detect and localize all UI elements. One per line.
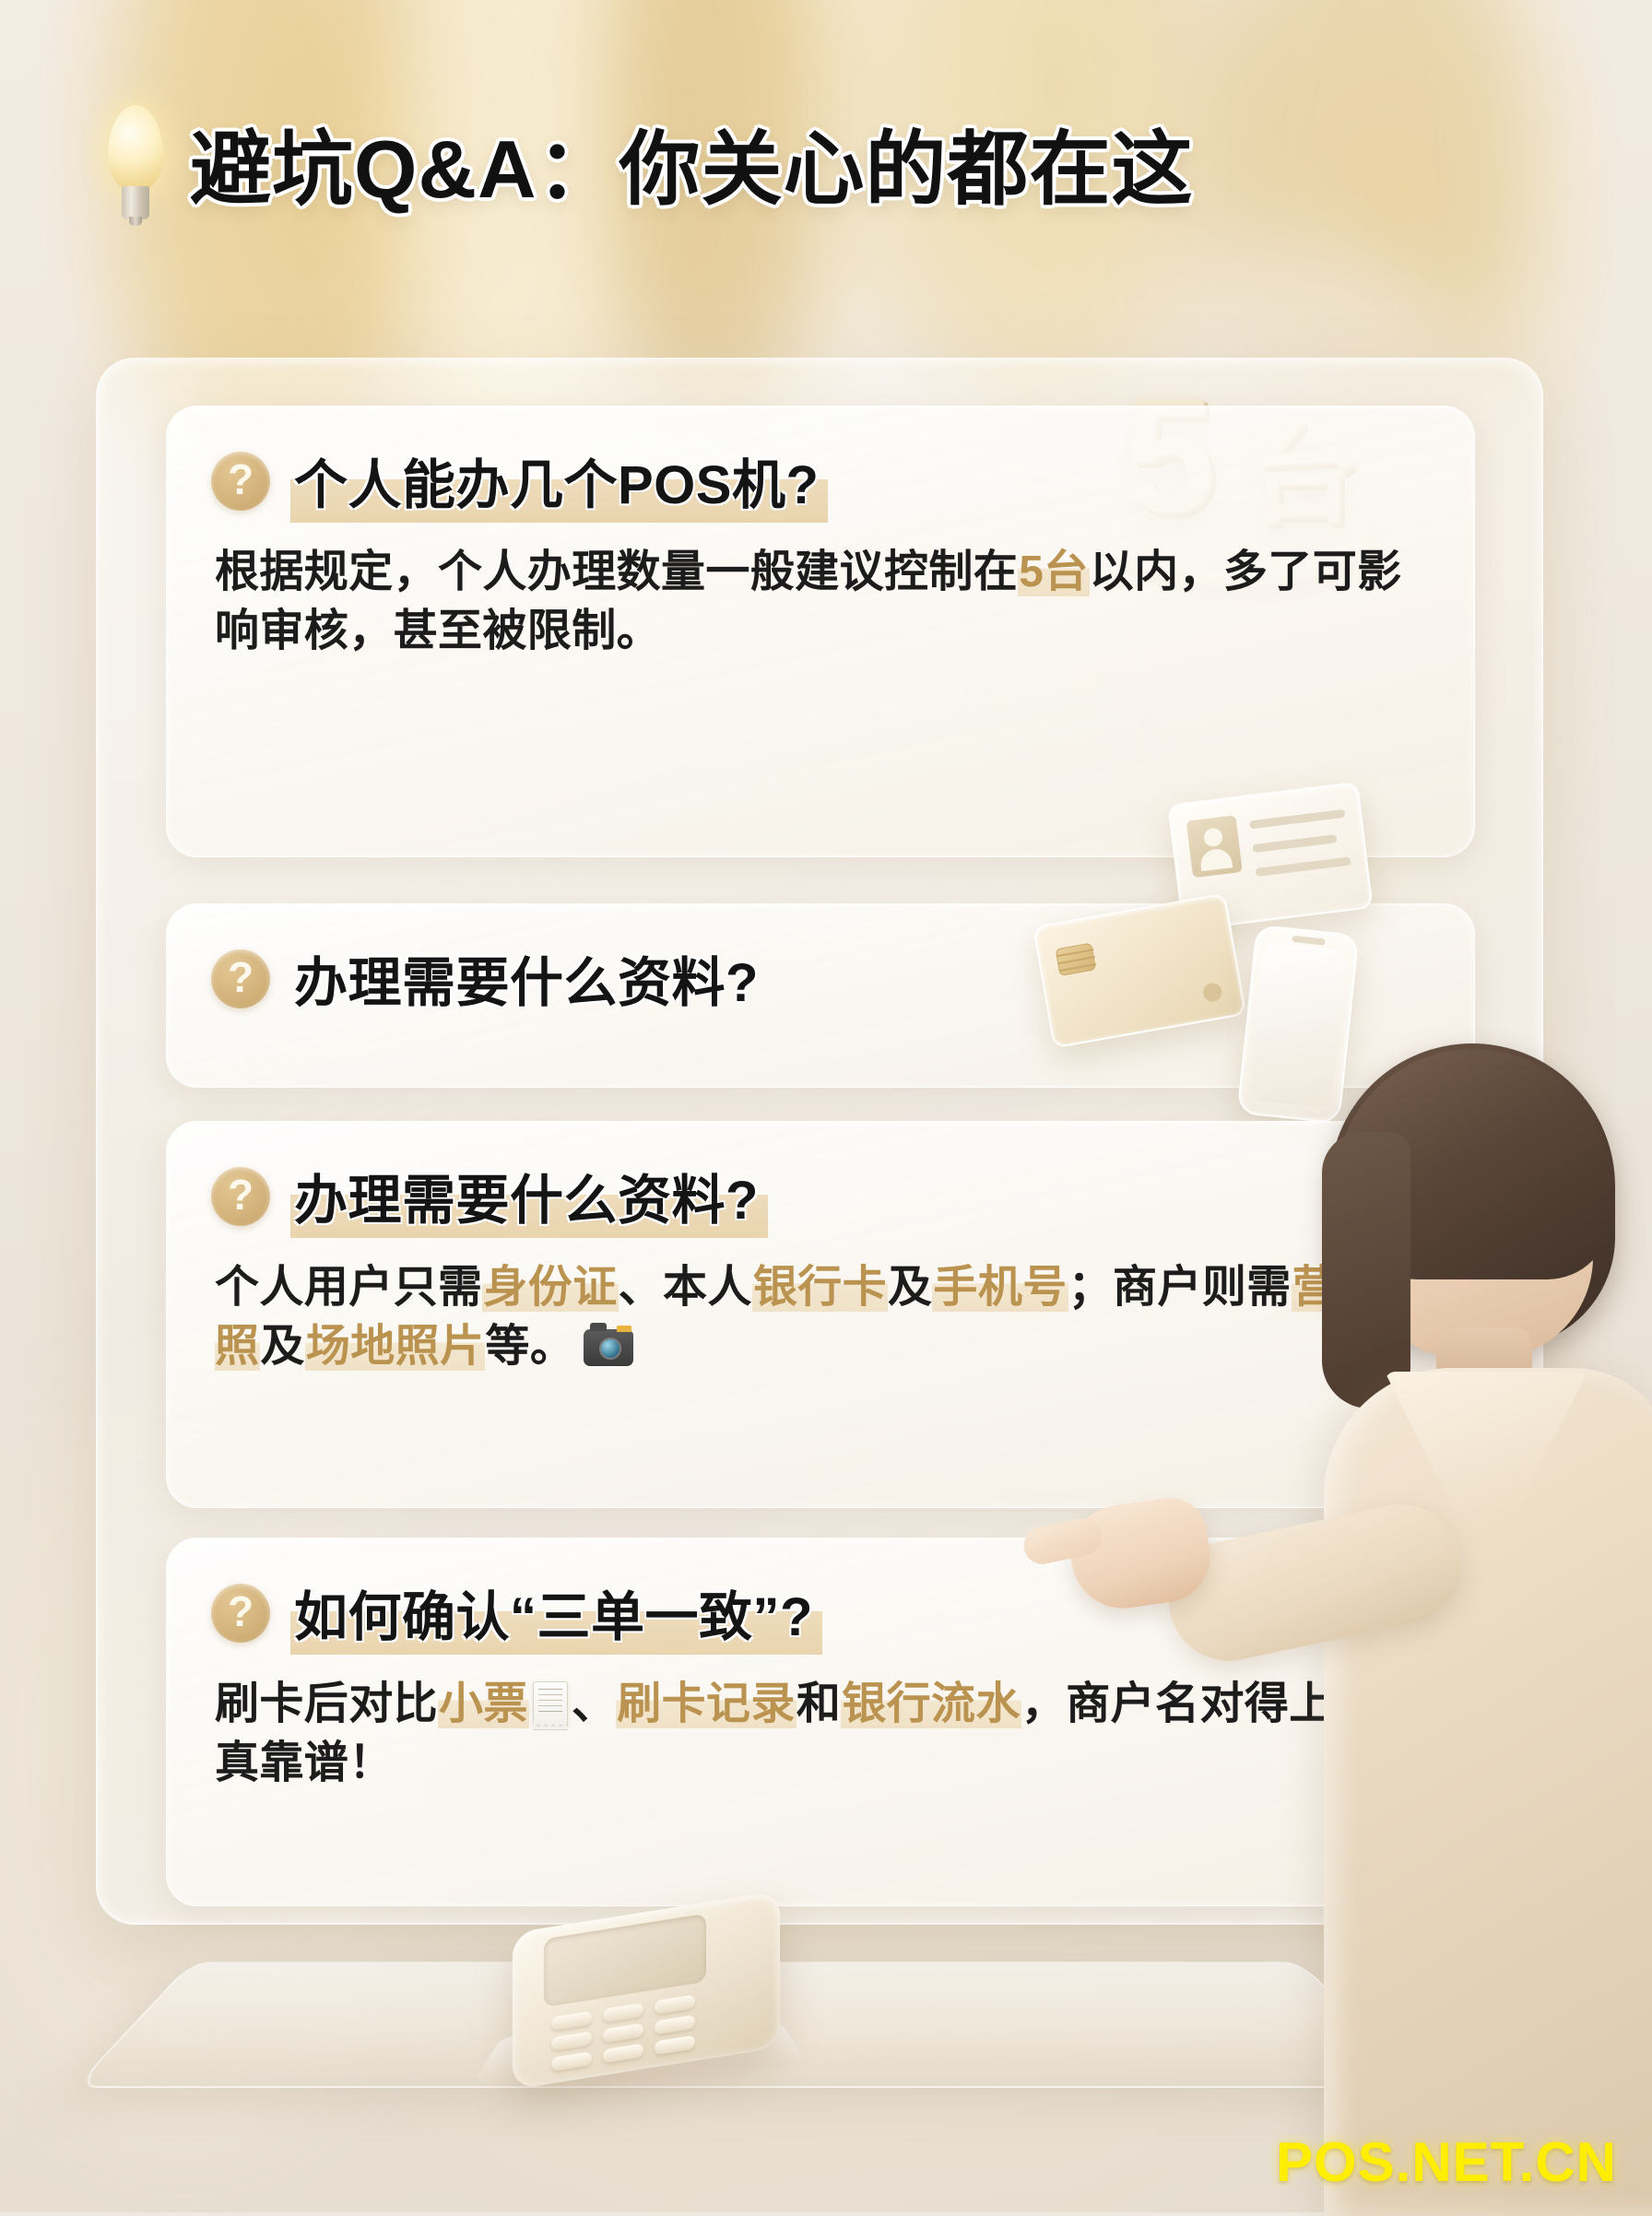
answer-highlight: 手机号 — [932, 1263, 1068, 1312]
question-text: 个人能办几个POS机? — [290, 440, 828, 523]
answer-highlight: 刷卡记录 — [616, 1680, 796, 1728]
question-row: ? 如何确认“三单一致”? — [167, 1538, 1474, 1655]
answer-highlight: 银行流水 — [841, 1680, 1021, 1728]
answer-segment: 及 — [260, 1322, 304, 1371]
question-text: 办理需要什么资料? — [290, 937, 768, 1020]
answer-segment: 等。 — [485, 1322, 574, 1371]
answer-segment: 、 — [572, 1680, 616, 1728]
answer-segment: 刷卡后对比 — [215, 1680, 438, 1728]
answer-segment: ；商户则需 — [1068, 1263, 1292, 1312]
poster-page: 避坑Q&A：你关心的都在这 5 台 ? 个人能办几个POS机? 根据规定，个人办… — [0, 0, 1652, 2212]
answer-text: 根据规定，个人办理数量一般建议控制在5台以内，多了可影响审核，甚至被限制。 — [167, 523, 1474, 662]
answer-text: 刷卡后对比小票、刷卡记录和银行流水，商户名对得上才是真靠谱！ — [167, 1655, 1474, 1794]
question-text: 办理需要什么资料? — [290, 1155, 768, 1238]
receipt-icon — [533, 1681, 568, 1726]
answer-text: 个人用户只需身份证、本人银行卡及手机号；商户则需营业执照及场地照片等。 — [167, 1238, 1474, 1377]
question-mark-icon: ? — [211, 1584, 270, 1643]
question-row: ? 个人能办几个POS机? — [167, 407, 1474, 523]
qa-card[interactable]: ? 个人能办几个POS机? 根据规定，个人办理数量一般建议控制在5台以内，多了可… — [166, 406, 1475, 857]
qa-card[interactable]: ? 如何确认“三单一致”? 刷卡后对比小票、刷卡记录和银行流水，商户名对得上才是… — [166, 1538, 1475, 1906]
answer-segment: 及 — [888, 1263, 932, 1312]
question-mark-icon: ? — [211, 949, 270, 1008]
question-text: 如何确认“三单一致”? — [290, 1572, 822, 1655]
answer-highlight: 5台 — [1018, 548, 1090, 596]
qa-card[interactable]: ? 办理需要什么资料? — [166, 903, 1475, 1088]
answer-highlight: 场地照片 — [305, 1322, 486, 1371]
question-mark-icon: ? — [211, 452, 270, 511]
answer-highlight: 身份证 — [482, 1263, 618, 1312]
answer-highlight: 小票 — [438, 1680, 529, 1728]
page-header: 避坑Q&A：你关心的都在这 — [0, 100, 1652, 225]
answer-segment: 个人用户只需 — [215, 1263, 482, 1312]
glass-board-stand — [74, 1962, 1421, 2088]
answer-segment: 、本人 — [619, 1263, 752, 1312]
camera-icon — [584, 1329, 633, 1366]
question-row: ? 办理需要什么资料? — [167, 904, 1474, 1020]
qa-card[interactable]: ? 办理需要什么资料? 个人用户只需身份证、本人银行卡及手机号；商户则需营业执照… — [166, 1121, 1475, 1508]
question-row: ? 办理需要什么资料? — [167, 1122, 1474, 1238]
lightbulb-icon — [96, 105, 175, 225]
question-mark-icon: ? — [211, 1167, 270, 1226]
answer-highlight: 银行卡 — [752, 1263, 888, 1312]
answer-segment: 根据规定，个人办理数量一般建议控制在 — [215, 548, 1018, 596]
page-title: 避坑Q&A：你关心的都在这 — [190, 104, 1194, 221]
answer-segment: 和 — [796, 1680, 841, 1728]
site-watermark: POS.NET.CN — [1276, 2130, 1617, 2194]
